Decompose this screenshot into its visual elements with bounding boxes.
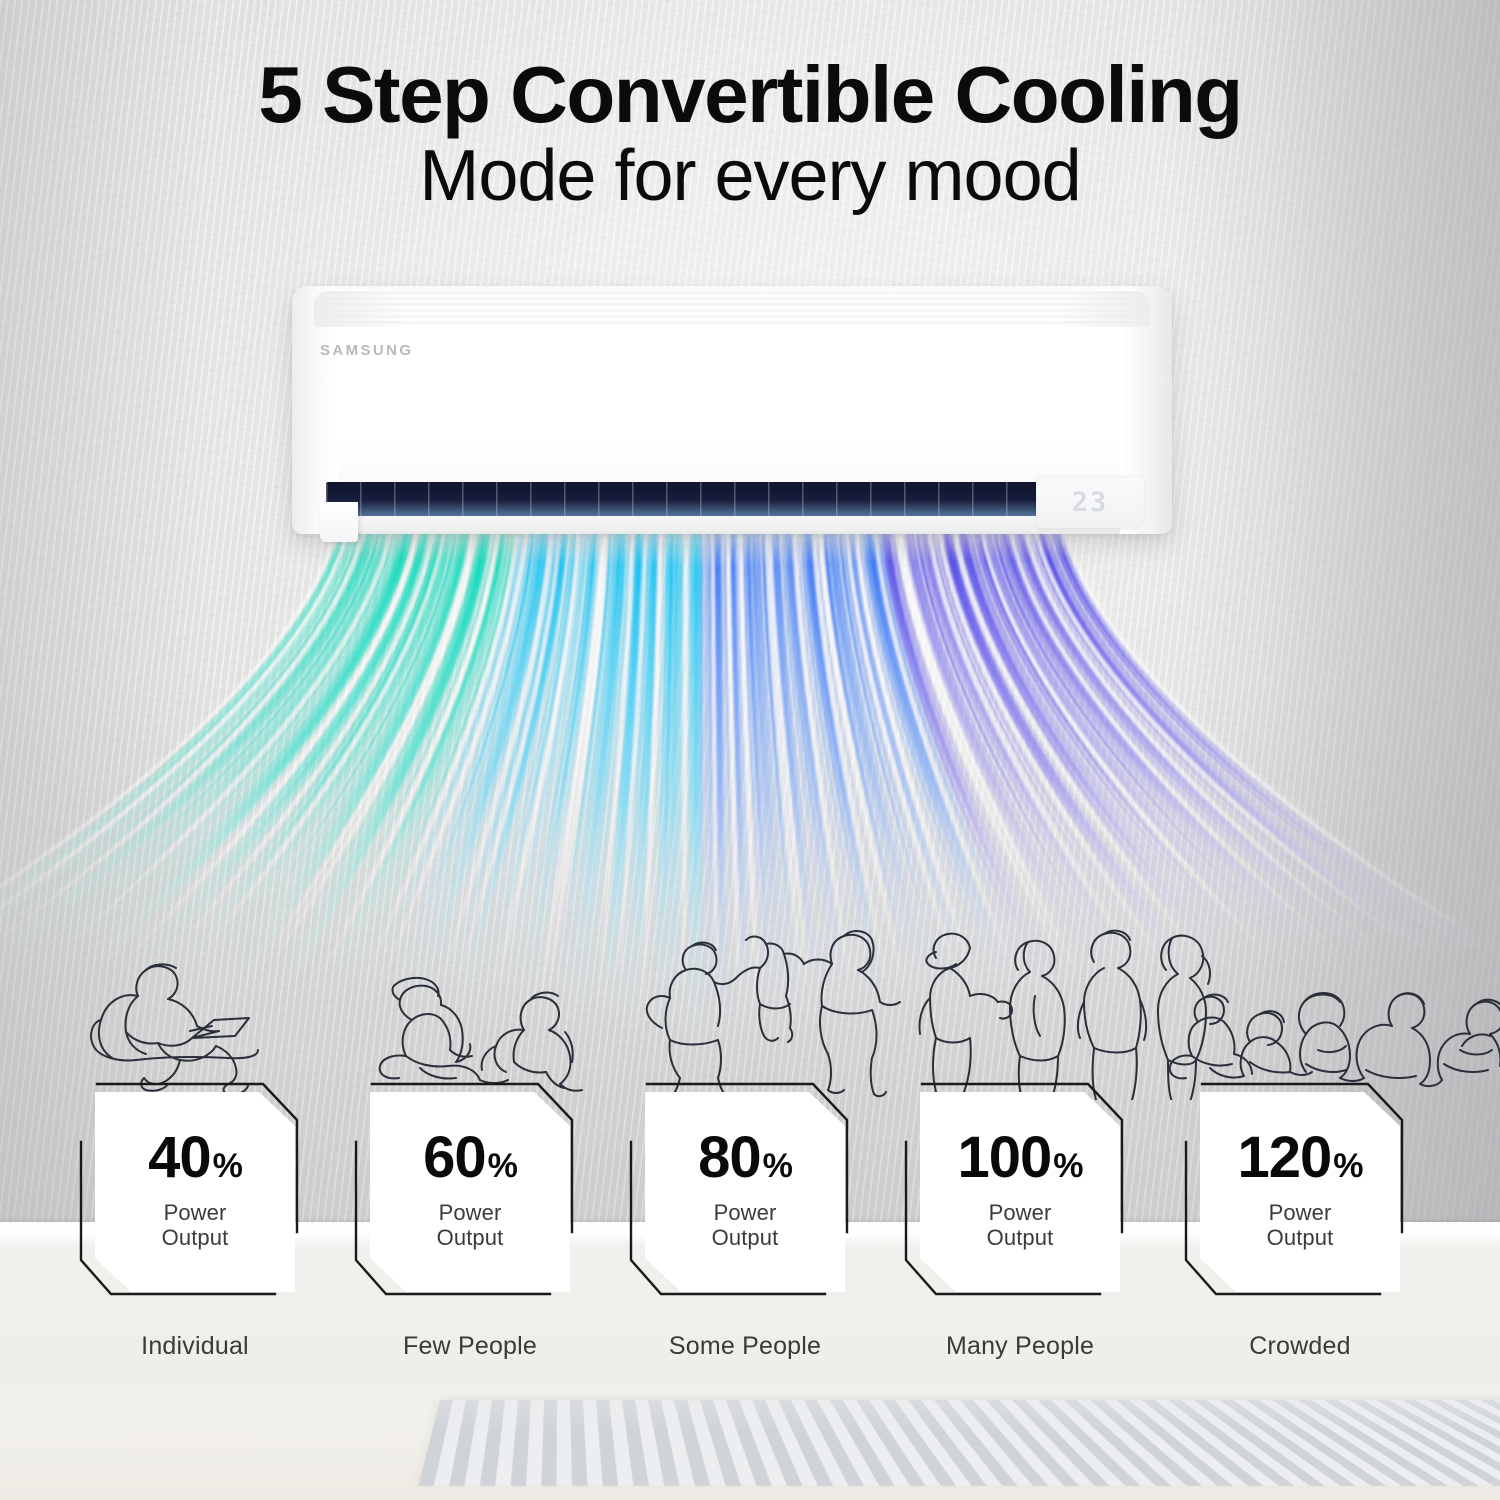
power-output-line-2: Output bbox=[1267, 1226, 1334, 1251]
people-illustrations-layer bbox=[0, 900, 1500, 1100]
percent-symbol: % bbox=[763, 1149, 792, 1183]
card-caption: Some People bbox=[625, 1332, 865, 1361]
ac-louver-flap bbox=[320, 502, 358, 542]
percent-value: 60 % bbox=[423, 1129, 517, 1187]
card-panel: 60 % Power Output bbox=[370, 1092, 570, 1292]
ac-vent-glow bbox=[326, 500, 1106, 516]
power-output-line-1: Power bbox=[162, 1201, 229, 1226]
percent-value: 120 % bbox=[1237, 1129, 1362, 1187]
power-output-line-1: Power bbox=[712, 1201, 779, 1226]
two-people-sitting-on-floor-icon bbox=[380, 978, 582, 1091]
power-output-card[interactable]: 80 % Power Output Some People bbox=[625, 1080, 925, 1390]
card-panel: 40 % Power Output bbox=[95, 1092, 295, 1292]
percent-symbol: % bbox=[213, 1149, 242, 1183]
family-of-three-swinging-child-icon bbox=[647, 931, 900, 1099]
card-caption: Crowded bbox=[1180, 1332, 1420, 1361]
ac-display-value: 23 bbox=[1072, 487, 1109, 518]
headline-block: 5 Step Convertible Cooling Mode for ever… bbox=[0, 56, 1500, 219]
percent-number: 40 bbox=[148, 1129, 211, 1187]
five-people-seated-group-icon bbox=[1170, 993, 1500, 1086]
power-output-label: Power Output bbox=[712, 1201, 779, 1250]
percent-value: 80 % bbox=[698, 1129, 792, 1187]
samsung-logo: SAMSUNG bbox=[320, 342, 413, 359]
power-output-line-2: Output bbox=[437, 1226, 504, 1251]
ac-intake-grille bbox=[314, 291, 1150, 327]
power-output-line-2: Output bbox=[712, 1226, 779, 1251]
power-output-line-2: Output bbox=[162, 1226, 229, 1251]
card-caption: Few People bbox=[350, 1332, 590, 1361]
percent-symbol: % bbox=[1333, 1149, 1362, 1183]
ac-temperature-display: 23 bbox=[1036, 476, 1144, 528]
percent-symbol: % bbox=[488, 1149, 517, 1183]
card-panel: 120 % Power Output bbox=[1200, 1092, 1400, 1292]
power-output-line-2: Output bbox=[987, 1226, 1054, 1251]
card-caption: Individual bbox=[75, 1332, 315, 1361]
power-output-line-1: Power bbox=[437, 1201, 504, 1226]
power-output-label: Power Output bbox=[987, 1201, 1054, 1250]
power-output-cards: 40 % Power Output Individual 60 % Power … bbox=[0, 1080, 1500, 1390]
power-output-card[interactable]: 40 % Power Output Individual bbox=[75, 1080, 375, 1390]
percent-value: 100 % bbox=[957, 1129, 1082, 1187]
headline-line-1: 5 Step Convertible Cooling bbox=[0, 56, 1500, 134]
ac-air-vent bbox=[326, 482, 1106, 516]
power-output-card[interactable]: 120 % Power Output Crowded bbox=[1180, 1080, 1480, 1390]
card-panel: 80 % Power Output bbox=[645, 1092, 845, 1292]
rug-fade bbox=[418, 1400, 1500, 1486]
percent-symbol: % bbox=[1053, 1149, 1082, 1183]
card-caption: Many People bbox=[900, 1332, 1140, 1361]
percent-number: 80 bbox=[698, 1129, 761, 1187]
card-panel: 100 % Power Output bbox=[920, 1092, 1120, 1292]
power-output-line-1: Power bbox=[1267, 1201, 1334, 1226]
power-output-label: Power Output bbox=[1267, 1201, 1334, 1250]
people-line-art-svg bbox=[0, 900, 1500, 1100]
striped-rug bbox=[418, 1400, 1500, 1486]
four-people-standing-icon bbox=[919, 931, 1210, 1100]
percent-number: 60 bbox=[423, 1129, 486, 1187]
power-output-label: Power Output bbox=[162, 1201, 229, 1250]
power-output-card[interactable]: 60 % Power Output Few People bbox=[350, 1080, 650, 1390]
headline-line-2: Mode for every mood bbox=[0, 134, 1500, 219]
air-conditioner-unit: SAMSUNG 23 bbox=[292, 286, 1172, 534]
percent-number: 100 bbox=[957, 1129, 1051, 1187]
percent-value: 40 % bbox=[148, 1129, 242, 1187]
person-on-beanbag-with-laptop-icon bbox=[91, 964, 258, 1094]
power-output-card[interactable]: 100 % Power Output Many People bbox=[900, 1080, 1200, 1390]
percent-number: 120 bbox=[1237, 1129, 1331, 1187]
power-output-label: Power Output bbox=[437, 1201, 504, 1250]
power-output-line-1: Power bbox=[987, 1201, 1054, 1226]
